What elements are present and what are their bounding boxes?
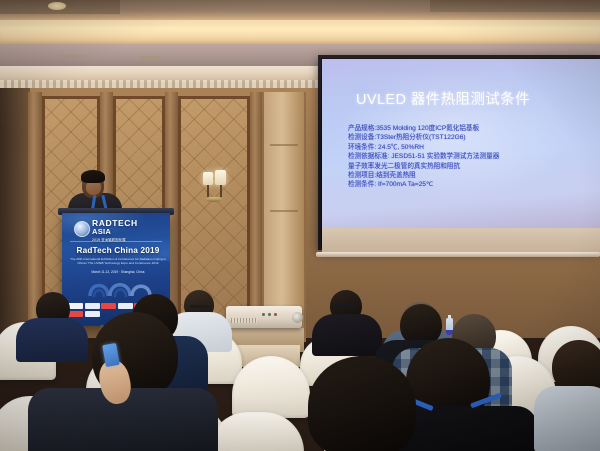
door-frame (262, 92, 306, 342)
sponsor-logo (68, 303, 83, 309)
sconce-arm-left (207, 185, 209, 197)
podium-event-title: RadTech China 2019 (70, 246, 166, 255)
sponsor-logo (85, 303, 100, 309)
speaker-hair (81, 170, 105, 183)
podium-divider (70, 241, 162, 242)
ceiling-downlight (48, 2, 66, 10)
slide-line-4: 检测依据标准: JESD51-51 实验数学测试方法测量器 (348, 152, 563, 161)
slide-line-6: 检测项目:结到壳盖热阻 (348, 171, 563, 180)
sconce-base (206, 197, 222, 202)
sponsor-logo (85, 311, 100, 317)
door-line-1 (270, 144, 298, 146)
sponsor-logo (118, 303, 133, 309)
brand-line-2: ASIA (92, 228, 138, 237)
attendee-torso-right-edge (534, 386, 600, 451)
radtech-globe-logo-icon (74, 221, 90, 237)
wall-pillar-4 (250, 92, 262, 342)
sponsor-logo (68, 311, 83, 317)
attendee-glasses-far-2 (190, 305, 209, 308)
slide-title: UVLED 器件热阻测试条件 (356, 88, 586, 109)
projector-button-b[interactable] (268, 313, 271, 316)
projector-lens (292, 312, 303, 323)
ceiling-vent-b (140, 56, 162, 59)
attendee-glasses-far-3 (336, 304, 356, 307)
slide-line-3: 环境条件: 24.5℃, 50%RH (348, 143, 563, 152)
sconce-shade-right (215, 170, 226, 185)
podium-event-subtitle: The 20th International Exhibition & Conf… (68, 257, 168, 265)
cove-light-glow (0, 26, 600, 42)
projector-button-a[interactable] (262, 313, 265, 316)
projector-vent (231, 318, 257, 323)
slide-line-7: 检测条件: If=700mA Ta=25℃ (348, 180, 563, 189)
projector-device (226, 306, 302, 328)
slide-line-2: 检测设备:T3Ster热阻分析仪(TST122G6) (348, 133, 563, 142)
sconce-arm-right (220, 185, 222, 197)
sconce-shade-left (203, 172, 213, 185)
screen-bottom-rod (316, 252, 600, 257)
slide-body-text: 产品规格:3535 Molding 120度ICP氮化铝基板 检测设备:T3St… (348, 124, 563, 190)
slide-line-1: 产品规格:3535 Molding 120度ICP氮化铝基板 (348, 124, 563, 133)
wall-sconce (200, 172, 232, 222)
podium-event-date: March 11-13, 2019 · Shanghai, China (68, 270, 168, 274)
slide-line-5: 量子效率发光二极管的真实热阻和阻抗 (348, 162, 563, 171)
attendee-head-longhair (308, 356, 416, 451)
projector-button-c[interactable] (274, 313, 277, 316)
conference-room-photo: UVLED 器件热阻测试条件 产品规格:3535 Molding 120度ICP… (0, 0, 600, 451)
ceiling-vent-a (60, 55, 86, 58)
attendee-torso-far-3 (312, 314, 382, 356)
sponsor-logo (101, 303, 116, 309)
door-line-2 (270, 210, 298, 212)
attendee-torso-far-1 (16, 318, 88, 362)
ceiling-recess-right (430, 0, 600, 12)
wall-left-dark-edge (0, 88, 30, 348)
